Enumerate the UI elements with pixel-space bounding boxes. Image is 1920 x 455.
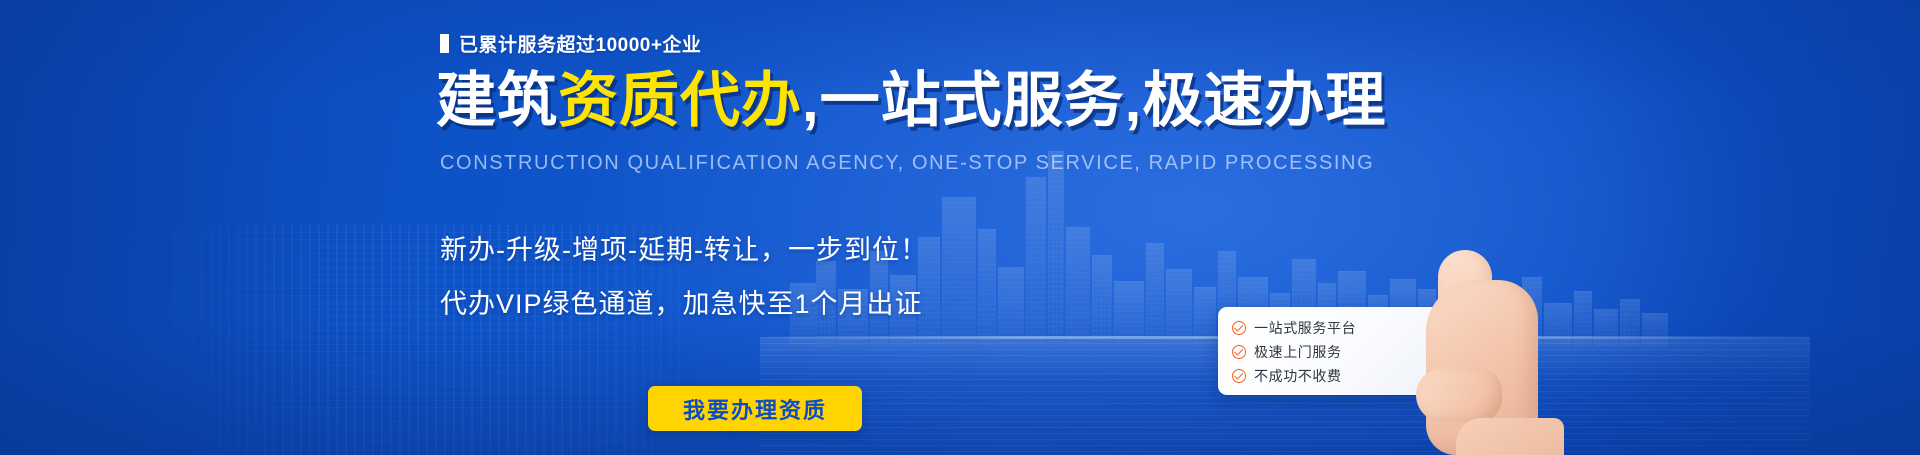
headline-part-highlight: 资质代办: [558, 67, 802, 134]
promo-banner: 已累计服务超过10000+企业 建筑资质代办,一站式服务,极速办理 CONSTR…: [0, 0, 1920, 455]
headline-part-1: 建筑: [436, 67, 558, 134]
card-item-label: 不成功不收费: [1254, 366, 1342, 386]
feature-line-2: 代办VIP绿色通道，加急快至1个月出证: [440, 282, 928, 321]
eyebrow-tagline: 已累计服务超过10000+企业: [440, 30, 701, 57]
card-item-label: 极速上门服务: [1254, 342, 1342, 362]
check-circle-icon: [1232, 369, 1246, 383]
feature-lines: 新办-升级-增项-延期-转让，一步到位！ 代办VIP绿色通道，加急快至1个月出证: [440, 228, 928, 336]
feature-line-1: 新办-升级-增项-延期-转让，一步到位！: [440, 228, 928, 267]
eyebrow-text: 已累计服务超过10000+企业: [459, 30, 701, 57]
headline-part-2: ,一站式服务,极速办理: [802, 67, 1386, 134]
hand-wrist: [1456, 418, 1564, 455]
check-circle-icon: [1232, 321, 1246, 335]
apply-qualification-button[interactable]: 我要办理资质: [648, 386, 862, 431]
hand-thumb: [1416, 368, 1502, 422]
check-circle-icon: [1232, 345, 1246, 359]
headline: 建筑资质代办,一站式服务,极速办理: [436, 66, 1386, 135]
banner-content: 已累计服务超过10000+企业 建筑资质代办,一站式服务,极速办理 CONSTR…: [0, 0, 1920, 455]
headline-subtitle-english: CONSTRUCTION QUALIFICATION AGENCY, ONE-S…: [440, 152, 1374, 175]
bullet-mark-icon: [440, 34, 449, 53]
card-item-label: 一站式服务平台: [1254, 318, 1356, 338]
hand-holding-card-image: [1398, 250, 1578, 455]
